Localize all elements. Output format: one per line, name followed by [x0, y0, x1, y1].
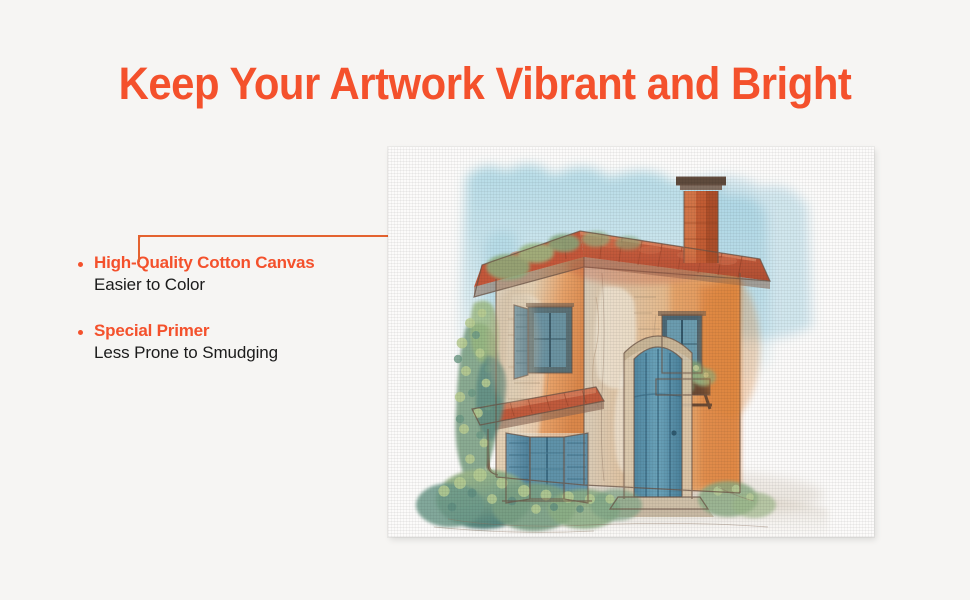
bullet-dot-icon	[78, 330, 83, 335]
page-title: Keep Your Artwork Vibrant and Bright	[34, 58, 936, 110]
list-item: High-Quality Cotton Canvas Easier to Col…	[78, 252, 378, 298]
bullet-dot-icon	[78, 262, 83, 267]
artwork-canvas	[388, 147, 874, 537]
feature-title: Special Primer	[94, 320, 378, 341]
feature-subtitle: Easier to Color	[94, 273, 378, 298]
feature-title: High-Quality Cotton Canvas	[94, 252, 378, 273]
watercolor-house-illustration	[388, 147, 874, 537]
poster-stage: Keep Your Artwork Vibrant and Bright Hig…	[0, 0, 970, 600]
list-item: Special Primer Less Prone to Smudging	[78, 320, 378, 366]
feature-list: High-Quality Cotton Canvas Easier to Col…	[78, 252, 378, 384]
connector-corner	[138, 235, 146, 243]
feature-subtitle: Less Prone to Smudging	[94, 341, 378, 366]
